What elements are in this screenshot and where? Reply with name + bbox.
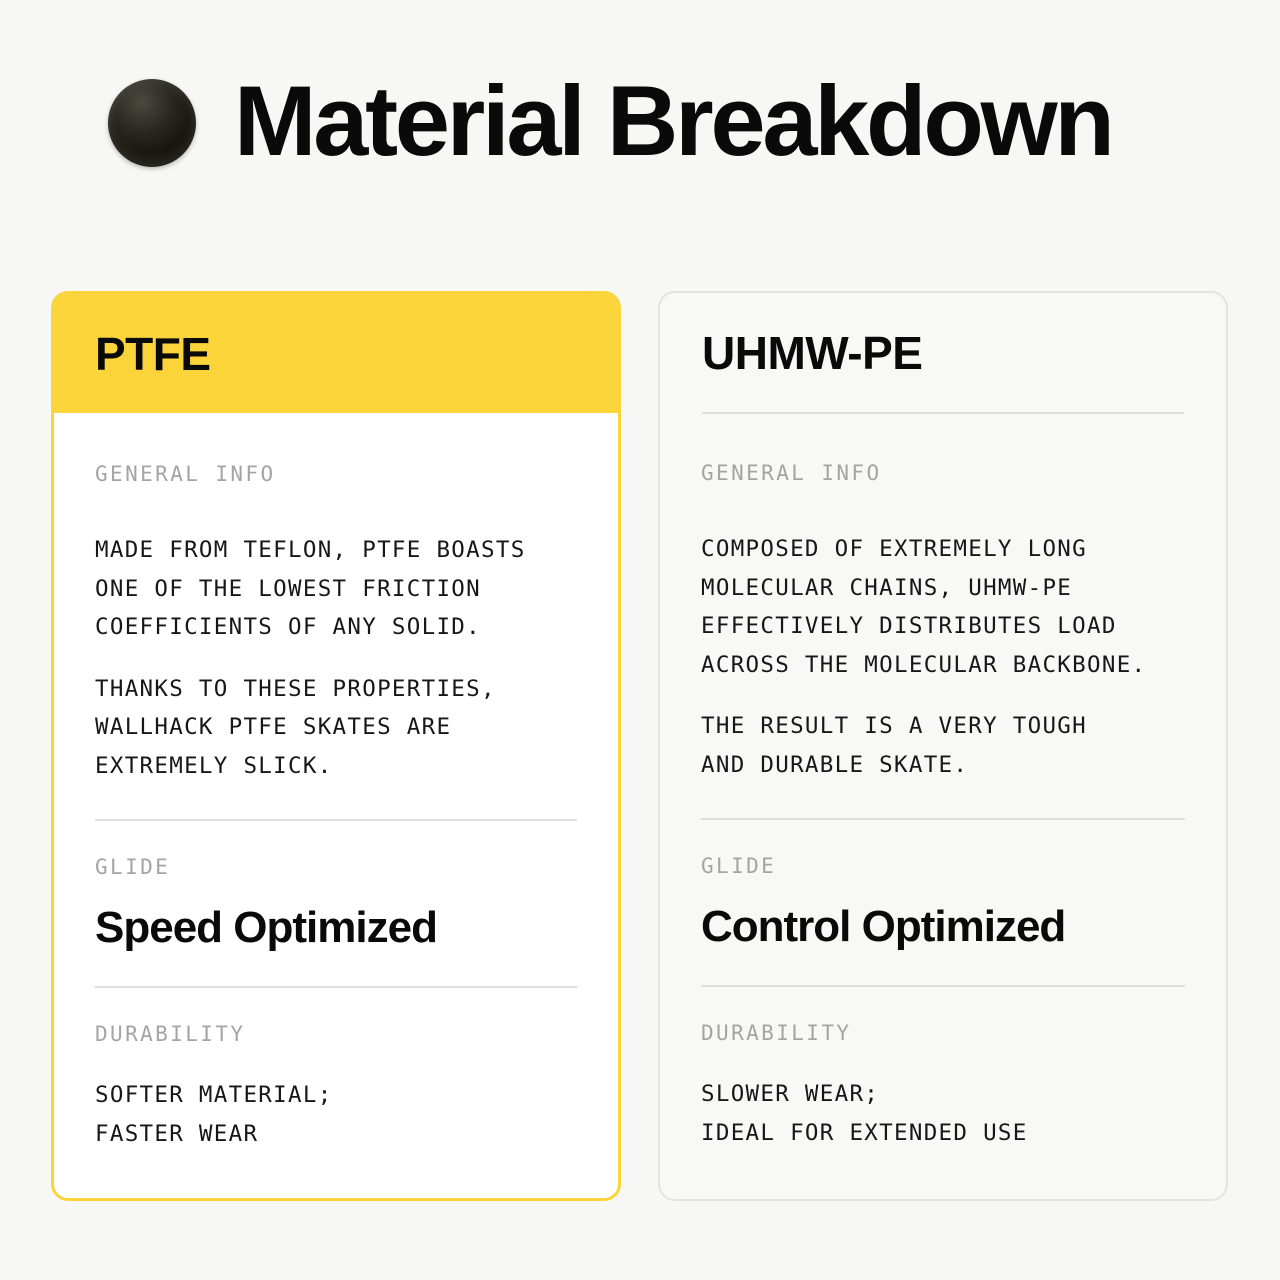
general-info-paragraph-2: THE RESULT IS A VERY TOUGH AND DURABLE S… (701, 707, 1185, 784)
card-header-uhmw-pe: UHMW-PE (660, 293, 1226, 412)
general-info-paragraph-2: THANKS TO THESE PROPERTIES, WALLHACK PTF… (95, 670, 577, 786)
material-card-uhmw-pe[interactable]: UHMW-PE GENERAL INFO COMPOSED OF EXTREME… (658, 291, 1228, 1201)
glide-value: Speed Optimized (95, 906, 577, 950)
card-title: UHMW-PE (702, 330, 922, 376)
section-label-glide: GLIDE (701, 856, 1185, 877)
page-title: Material Breakdown (234, 71, 1112, 170)
material-cards-row: PTFE GENERAL INFO MADE FROM TEFLON, PTFE… (51, 291, 1229, 1201)
card-body-uhmw-pe: GENERAL INFO COMPOSED OF EXTREMELY LONG … (660, 414, 1226, 1152)
section-label-durability: DURABILITY (701, 1023, 1185, 1044)
card-body-ptfe: GENERAL INFO MADE FROM TEFLON, PTFE BOAS… (54, 413, 618, 1153)
durability-value: SLOWER WEAR; IDEAL FOR EXTENDED USE (701, 1075, 1185, 1152)
section-label-durability: DURABILITY (95, 1024, 577, 1045)
section-label-glide: GLIDE (95, 857, 577, 878)
general-info-paragraph-1: MADE FROM TEFLON, PTFE BOASTS ONE OF THE… (95, 531, 577, 647)
glide-value: Control Optimized (701, 905, 1185, 949)
page-header: Material Breakdown (0, 0, 1280, 240)
filled-circle-icon (108, 79, 196, 167)
section-label-general-info: GENERAL INFO (701, 463, 1185, 484)
card-header-ptfe: PTFE (54, 294, 618, 413)
material-card-ptfe[interactable]: PTFE GENERAL INFO MADE FROM TEFLON, PTFE… (51, 291, 621, 1201)
durability-value: SOFTER MATERIAL; FASTER WEAR (95, 1076, 577, 1153)
general-info-paragraph-1: COMPOSED OF EXTREMELY LONG MOLECULAR CHA… (701, 530, 1185, 684)
card-title: PTFE (95, 331, 211, 377)
section-label-general-info: GENERAL INFO (95, 464, 577, 485)
